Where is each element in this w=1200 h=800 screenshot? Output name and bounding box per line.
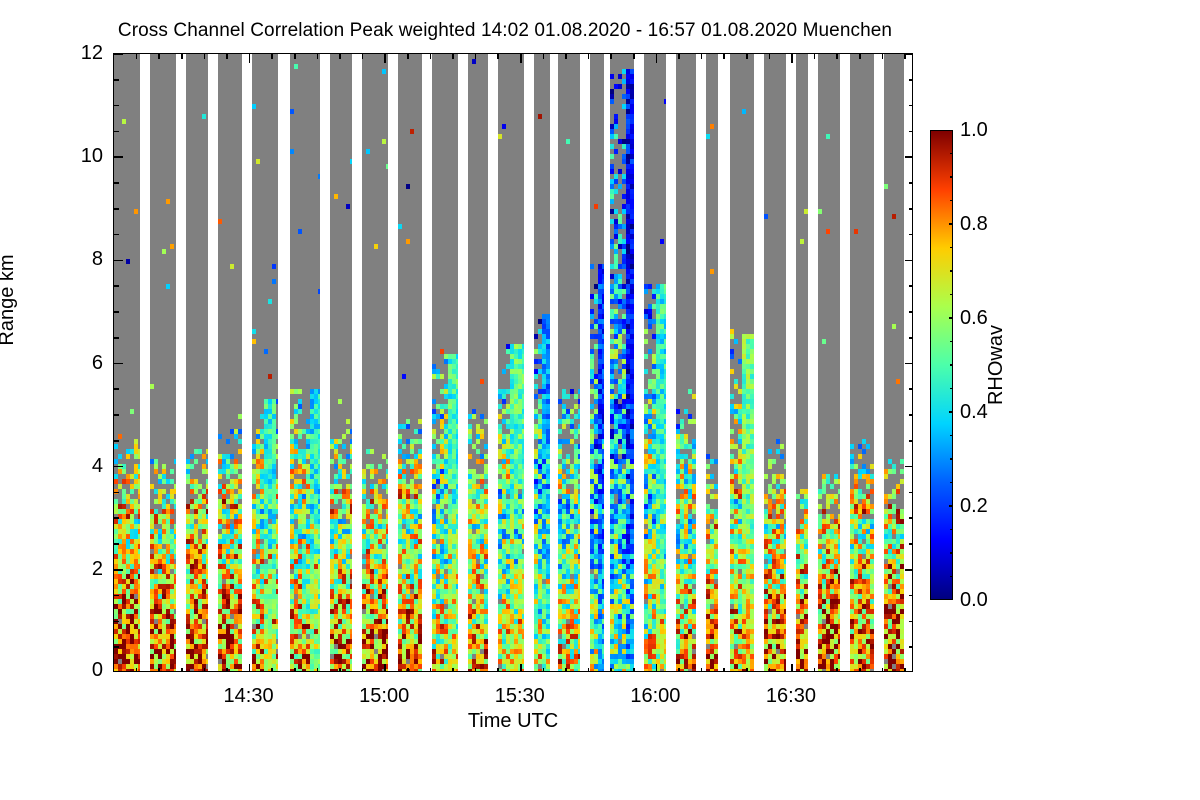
axis-tick — [497, 668, 499, 672]
colorbar-minor-tick — [950, 341, 953, 342]
axis-tick — [181, 668, 183, 672]
x-tick-label: 15:00 — [324, 686, 444, 706]
axis-tick — [158, 668, 160, 672]
axis-tick — [909, 285, 913, 287]
axis-tick — [859, 54, 861, 59]
colorbar-minor-tick — [950, 200, 953, 201]
axis-tick — [565, 54, 567, 59]
axis-tick — [114, 621, 119, 623]
colorbar-minor-tick — [950, 529, 953, 530]
axis-tick — [905, 156, 913, 158]
colorbar-minor-tick — [950, 388, 953, 389]
axis-tick — [249, 54, 251, 59]
axis-tick — [114, 208, 119, 210]
axis-tick — [114, 517, 119, 519]
axis-tick — [588, 668, 590, 672]
colorbar-tick-label: 0.0 — [960, 590, 988, 610]
colorbar-tick-label: 0.6 — [960, 308, 988, 328]
axis-tick — [271, 54, 273, 59]
axis-tick — [909, 517, 913, 519]
axis-tick — [909, 388, 913, 390]
axis-tick — [610, 668, 612, 672]
axis-tick — [114, 105, 119, 107]
axis-tick — [746, 668, 748, 672]
colorbar-tick — [949, 223, 953, 224]
x-tick-label: 14:30 — [189, 686, 309, 706]
axis-tick — [407, 54, 409, 59]
x-tick-label: 15:30 — [460, 686, 580, 706]
axis-tick — [362, 668, 364, 672]
axis-tick — [909, 595, 913, 597]
axis-tick — [909, 234, 913, 236]
axis-tick — [497, 54, 499, 59]
axis-tick — [678, 668, 680, 672]
axis-tick — [909, 492, 913, 494]
axis-tick — [114, 53, 123, 55]
axis-tick — [656, 54, 658, 59]
axis-tick — [723, 54, 725, 59]
colorbar-minor-tick — [950, 482, 953, 483]
axis-tick — [294, 54, 296, 59]
axis-tick — [701, 54, 703, 59]
axis-tick — [909, 182, 913, 184]
y-tick-label: 10 — [3, 146, 103, 166]
colorbar-minor-tick — [950, 247, 953, 248]
axis-tick — [769, 54, 771, 59]
axis-tick — [114, 182, 119, 184]
axis-tick — [317, 54, 319, 59]
y-tick-label: 12 — [3, 43, 103, 63]
axis-tick — [904, 668, 906, 672]
axis-tick — [226, 54, 228, 59]
axis-tick — [114, 156, 123, 158]
colorbar-tick — [949, 317, 953, 318]
axis-tick — [791, 668, 793, 672]
axis-tick — [407, 668, 409, 672]
axis-tick — [114, 440, 119, 442]
axis-tick — [836, 668, 838, 672]
colorbar-tick-label: 0.2 — [960, 496, 988, 516]
axis-tick — [114, 646, 119, 648]
colorbar-minor-tick — [950, 153, 953, 154]
axis-tick — [384, 54, 386, 59]
axis-tick — [249, 668, 251, 672]
axis-tick — [158, 54, 160, 59]
axis-tick — [114, 311, 119, 313]
axis-tick — [226, 668, 228, 672]
axis-tick — [909, 337, 913, 339]
axis-tick — [114, 569, 123, 571]
axis-tick — [339, 668, 341, 672]
axis-tick — [114, 260, 123, 262]
y-tick-label: 4 — [3, 456, 103, 476]
axis-tick — [114, 79, 119, 81]
axis-tick — [723, 668, 725, 672]
axis-tick — [114, 414, 119, 416]
axis-tick — [543, 668, 545, 672]
x-axis-label: Time UTC — [113, 710, 913, 733]
axis-tick — [633, 668, 635, 672]
axis-tick — [114, 466, 123, 468]
axis-tick — [114, 131, 119, 133]
axis-tick — [475, 54, 477, 59]
colorbar-minor-tick — [950, 576, 953, 577]
axis-tick — [882, 54, 884, 59]
colorbar-minor-tick — [950, 552, 953, 553]
axis-tick — [114, 671, 123, 672]
y-tick-label: 6 — [3, 353, 103, 373]
colorbar-minor-tick — [950, 364, 953, 365]
axis-tick — [746, 54, 748, 59]
axis-tick — [317, 668, 319, 672]
colorbar-minor-tick — [950, 458, 953, 459]
colorbar-minor-tick — [950, 270, 953, 271]
colorbar-minor-tick — [950, 294, 953, 295]
axis-tick — [904, 54, 906, 59]
colorbar-tick-label: 0.4 — [960, 402, 988, 422]
axis-tick — [909, 105, 913, 107]
axis-tick — [204, 54, 206, 59]
axis-tick — [136, 668, 138, 672]
axis-tick — [610, 54, 612, 59]
axis-tick — [909, 79, 913, 81]
axis-tick — [543, 54, 545, 59]
colorbar-tick — [949, 505, 953, 506]
axis-tick — [452, 54, 454, 59]
axis-tick — [114, 492, 119, 494]
axis-tick — [859, 668, 861, 672]
axis-tick — [181, 54, 183, 59]
colorbar — [930, 130, 953, 600]
axis-tick — [791, 54, 793, 59]
colorbar-minor-tick — [950, 176, 953, 177]
axis-tick — [678, 54, 680, 59]
axis-tick — [909, 543, 913, 545]
axis-tick — [909, 311, 913, 313]
axis-tick — [909, 414, 913, 416]
axis-tick — [520, 668, 522, 672]
axis-tick — [114, 388, 119, 390]
axis-tick — [909, 440, 913, 442]
axis-tick — [384, 668, 386, 672]
axis-tick — [430, 54, 432, 59]
axis-tick — [814, 668, 816, 672]
axis-tick — [909, 131, 913, 133]
axis-tick — [136, 54, 138, 59]
axis-tick — [588, 54, 590, 59]
y-tick-label: 0 — [3, 660, 103, 680]
axis-tick — [905, 466, 913, 468]
heatmap-data-canvas — [114, 54, 913, 672]
axis-tick — [882, 668, 884, 672]
axis-tick — [114, 234, 119, 236]
colorbar-tick — [949, 599, 953, 600]
axis-tick — [701, 668, 703, 672]
axis-tick — [294, 668, 296, 672]
axis-tick — [909, 621, 913, 623]
axis-tick — [475, 668, 477, 672]
colorbar-tick — [949, 130, 953, 131]
colorbar-tick-label: 1.0 — [960, 120, 988, 140]
axis-tick — [905, 671, 913, 672]
axis-tick — [430, 668, 432, 672]
axis-tick — [633, 54, 635, 59]
axis-tick — [565, 668, 567, 672]
x-tick-label: 16:00 — [595, 686, 715, 706]
axis-tick — [905, 363, 913, 365]
y-tick-label: 2 — [3, 559, 103, 579]
y-axis-label: Range km — [0, 254, 19, 345]
axis-tick — [114, 595, 119, 597]
axis-tick — [905, 569, 913, 571]
axis-tick — [114, 285, 119, 287]
x-tick-label: 16:30 — [731, 686, 851, 706]
axis-tick — [114, 363, 123, 365]
axis-tick — [339, 54, 341, 59]
axis-tick — [836, 54, 838, 59]
colorbar-tick-label: 0.8 — [960, 214, 988, 234]
axis-tick — [905, 260, 913, 262]
axis-tick — [909, 208, 913, 210]
page-title: Cross Channel Correlation Peak weighted … — [0, 20, 1010, 42]
axis-tick — [769, 668, 771, 672]
colorbar-title: RHOwav — [985, 325, 1008, 405]
axis-tick — [271, 668, 273, 672]
axis-tick — [905, 53, 913, 55]
axis-tick — [909, 646, 913, 648]
colorbar-minor-tick — [950, 411, 953, 412]
axis-tick — [452, 668, 454, 672]
colorbar-minor-tick — [950, 435, 953, 436]
plot-axes-area — [113, 53, 913, 672]
radar-timeheight-figure: Cross Channel Correlation Peak weighted … — [0, 0, 1200, 800]
axis-tick — [114, 337, 119, 339]
axis-tick — [204, 668, 206, 672]
axis-tick — [656, 668, 658, 672]
axis-tick — [520, 54, 522, 59]
axis-tick — [114, 543, 119, 545]
axis-tick — [362, 54, 364, 59]
axis-tick — [814, 54, 816, 59]
